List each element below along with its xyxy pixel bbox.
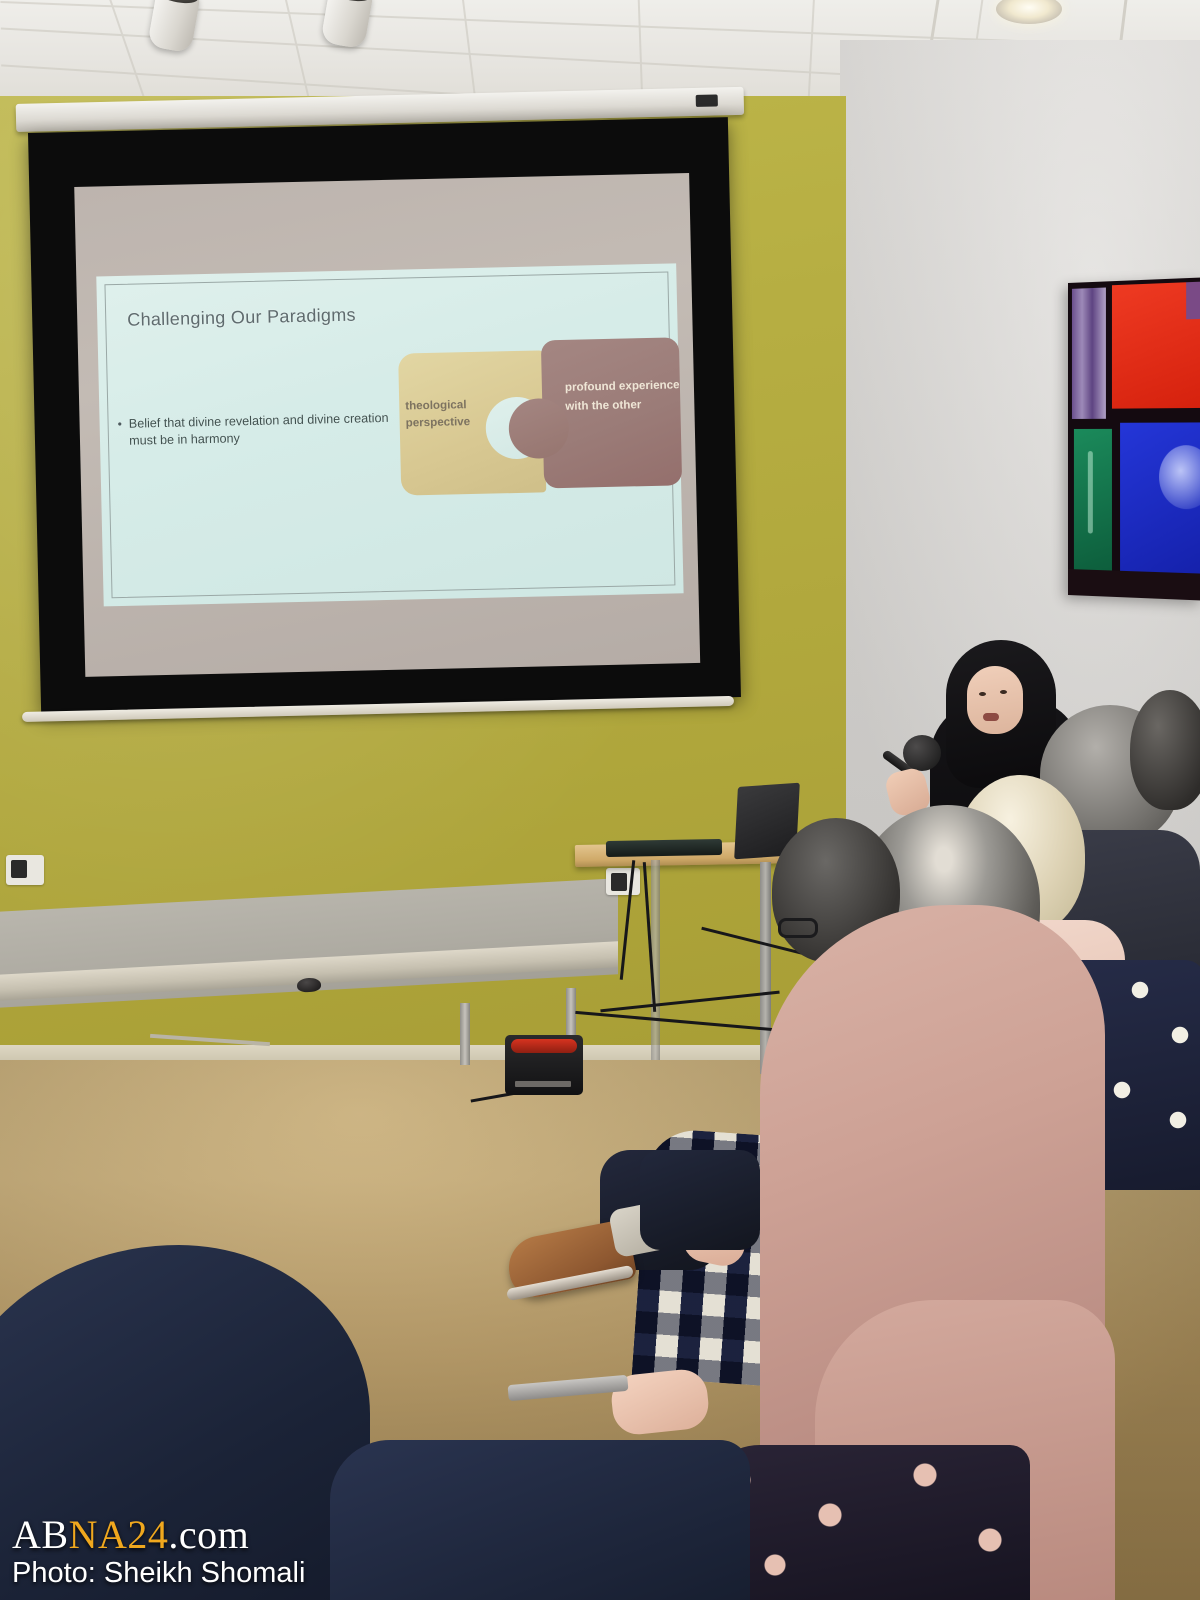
puzzle-tab-icon	[508, 398, 569, 459]
watermark-credit: Photo: Sheikh Shomali	[12, 1558, 305, 1588]
watermark-brand-part1: AB	[12, 1512, 69, 1557]
microphone-icon[interactable]	[903, 735, 941, 771]
wall-painting	[1068, 277, 1200, 600]
watermark: ABNA24.com Photo: Sheikh Shomali	[12, 1514, 305, 1588]
photograph-canvas: Challenging Our Paradigms • Belief that …	[0, 0, 1200, 1600]
housing-badge-icon	[696, 94, 718, 107]
platform-leg	[460, 1003, 470, 1065]
cable-reel-label	[515, 1081, 571, 1087]
watermark-brand-part4: .com	[168, 1512, 249, 1557]
watermark-brand: ABNA24.com	[12, 1514, 305, 1556]
projection-screen[interactable]: Challenging Our Paradigms • Belief that …	[28, 117, 741, 713]
slide-bullet-text: Belief that divine revelation and divine…	[129, 410, 404, 450]
cable-reel-drum	[511, 1039, 577, 1053]
cable-reel	[505, 1035, 583, 1095]
slide-bullet: • Belief that divine revelation and divi…	[117, 410, 404, 450]
power-socket[interactable]	[6, 855, 44, 885]
foreground-person-leg	[330, 1440, 750, 1600]
watermark-brand-part3: 24	[127, 1512, 168, 1557]
audience-trouser-leg	[640, 1150, 760, 1250]
glasses-icon	[778, 918, 818, 938]
puzzle-diagram: theological perspective profound experie…	[398, 338, 671, 496]
puzzle-left-label: theological perspective	[405, 395, 502, 431]
power-socket[interactable]	[606, 868, 640, 895]
puzzle-right-label: profound experience with the other	[565, 375, 682, 416]
closed-laptop[interactable]	[606, 839, 722, 857]
presentation-slide: Challenging Our Paradigms • Belief that …	[96, 263, 683, 606]
bullet-marker-icon: •	[117, 416, 122, 450]
screen-surface: Challenging Our Paradigms • Belief that …	[74, 173, 700, 677]
watermark-brand-part2: NA	[69, 1512, 128, 1557]
speaker-face	[967, 666, 1023, 734]
